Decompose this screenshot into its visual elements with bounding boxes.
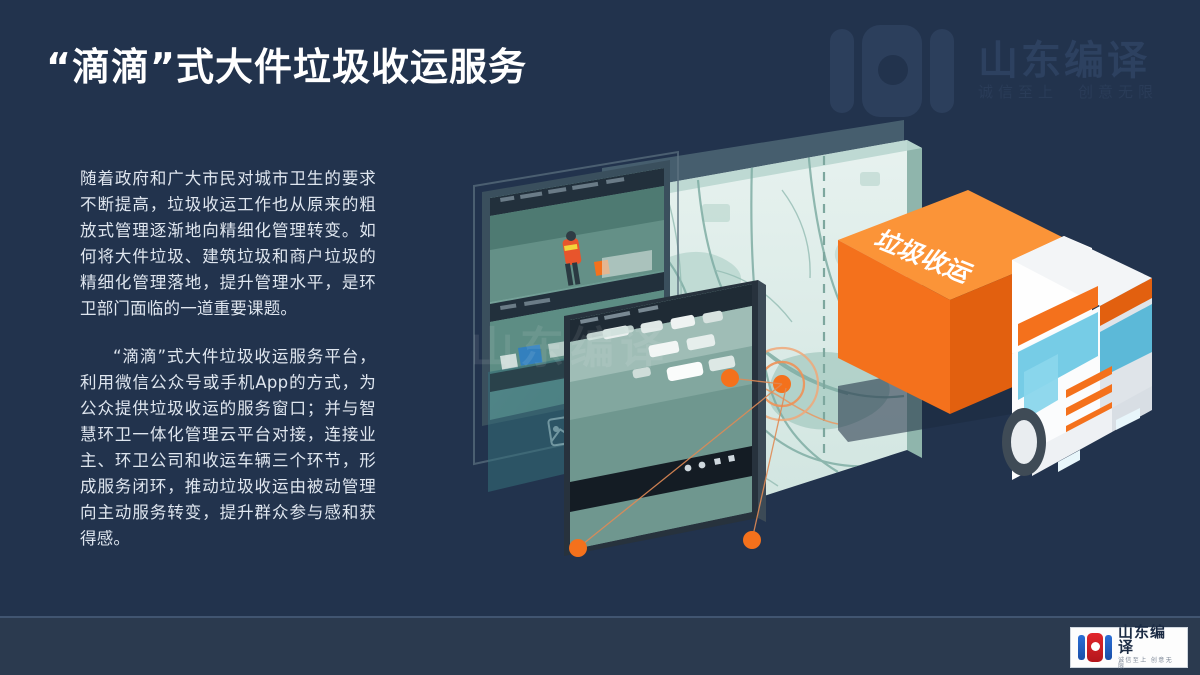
truck-cab — [1002, 236, 1152, 480]
watermark-logo-icon — [828, 25, 956, 117]
watermark-name: 山东编译 — [978, 41, 1158, 81]
footer-logo: 山东编译 诚信至上 创意无限 — [1070, 627, 1188, 668]
body-copy: 随着政府和广大市民对城市卫生的要求不断提高，垃圾收运工作也从原来的粗放式管理逐渐… — [80, 166, 376, 552]
footer-bar — [0, 618, 1200, 675]
slide-root: 山东编译 诚信至上 创意无限 “滴滴”式大件垃圾收运服务 随着政府和广大市民对城… — [0, 0, 1200, 675]
footer-logo-name: 山东编译 — [1118, 625, 1180, 655]
illustration: 垃圾收运 — [452, 120, 1200, 590]
illustration-svg: 垃圾收运 — [452, 120, 1200, 590]
footer-logo-icon — [1078, 633, 1112, 662]
page-title: “滴滴”式大件垃圾收运服务 — [46, 36, 527, 91]
video-player-panel — [562, 270, 766, 560]
watermark-tagline: 诚信至上 创意无限 — [978, 85, 1158, 100]
watermark-logo: 山东编译 诚信至上 创意无限 — [828, 18, 1188, 123]
paragraph-1: 随着政府和广大市民对城市卫生的要求不断提高，垃圾收运工作也从原来的粗放式管理逐渐… — [80, 166, 376, 322]
paragraph-2: “滴滴”式大件垃圾收运服务平台，利用微信公众号或手机App的方式，为公众提供垃圾… — [80, 344, 376, 552]
footer-logo-tagline: 诚信至上 创意无限 — [1118, 658, 1180, 670]
